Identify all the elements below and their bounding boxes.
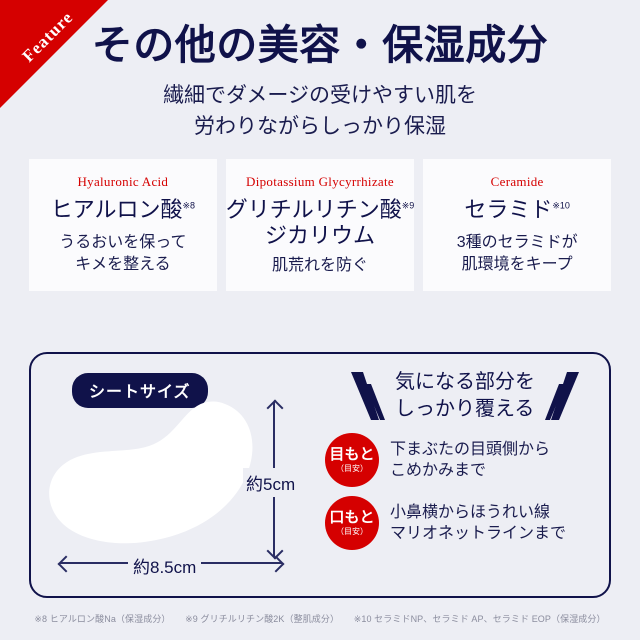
ingredient-english-name: Hyaluronic Acid (77, 174, 168, 190)
subtitle-line-2: 労わりながらしっかり保湿 (0, 112, 640, 142)
coverage-point-desc-line-2: マリオネットラインまで (390, 523, 566, 544)
footnote-marker: ※10 (552, 201, 570, 211)
ingredient-japanese-name: グリチルリチン酸※9 ジカリウム (226, 197, 415, 250)
ingredient-description: うるおいを保って キメを整える (59, 232, 186, 275)
coverage-headline-text: 気になる部分を しっかり覆える (395, 369, 535, 423)
height-dimension-label: 約5cm (243, 468, 298, 497)
ingredient-english-name: Ceramide (491, 174, 544, 190)
footnote-item: ※10 セラミドNP、セラミド AP、セラミド EOP（保湿成分） (354, 614, 606, 624)
sheet-shape-svg (45, 392, 275, 552)
coverage-point-mouth-area: 口もと （目安） 小鼻横からほうれい線 マリオネットラインまで (321, 496, 609, 550)
ingredient-card-list: Hyaluronic Acid ヒアルロン酸※8 うるおいを保って キメを整える… (29, 159, 611, 291)
footnote-marker: ※8 (182, 201, 195, 211)
ingredient-description: 3種のセラミドが 肌環境をキープ (457, 232, 578, 275)
coverage-point-eye-area: 目もと （目安） 下まぶたの目頭側から こめかみまで (321, 433, 609, 487)
sheet-size-panel: シートサイズ 約5cm 約8.5cm 気になる部分を しっかり覆える (29, 352, 611, 598)
ingredient-card-hyaluronic-acid: Hyaluronic Acid ヒアルロン酸※8 うるおいを保って キメを整える (29, 159, 217, 291)
ingredient-japanese-name: セラミド※10 (464, 197, 570, 223)
ingredient-card-dipotassium-glycyrrhizate: Dipotassium Glycyrrhizate グリチルリチン酸※9 ジカリ… (226, 159, 415, 291)
coverage-point-badge-sublabel: （目安） (336, 465, 368, 473)
footnote-item: ※9 グリチルリチン酸2K（整肌成分） (185, 614, 339, 624)
coverage-point-badge-label: 口もと (329, 510, 374, 527)
coverage-point-description: 小鼻横からほうれい線 マリオネットラインまで (390, 502, 566, 544)
ingredient-description: 肌荒れを防ぐ (272, 255, 368, 277)
coverage-point-badge-label: 目もと (329, 447, 374, 464)
coverage-point-description: 下まぶたの目頭側から こめかみまで (390, 439, 550, 481)
coverage-section: 気になる部分を しっかり覆える 目もと （目安） 下まぶたの目頭側から こめかみ… (321, 368, 609, 550)
ingredient-card-ceramide: Ceramide セラミド※10 3種のセラミドが 肌環境をキープ (423, 159, 611, 291)
coverage-point-badge-sublabel: （目安） (336, 528, 368, 536)
right-slash-decoration-icon (541, 368, 581, 424)
coverage-point-desc-line-2: こめかみまで (390, 460, 550, 481)
ingredient-japanese-text: ヒアルロン酸 (51, 197, 183, 222)
footnote-list: ※8 ヒアルロン酸Na（保湿成分） ※9 グリチルリチン酸2K（整肌成分） ※1… (0, 612, 640, 625)
ingredient-desc-line-2: キメを整える (59, 254, 186, 276)
feature-ribbon: Feature (0, 0, 108, 108)
ingredient-desc-line-2: 肌環境をキープ (457, 254, 578, 276)
ingredient-desc-line-1: 肌荒れを防ぐ (272, 255, 368, 277)
width-dimension-label: 約8.5cm (128, 551, 201, 580)
sheet-illustration (45, 392, 275, 552)
ingredient-english-name: Dipotassium Glycyrrhizate (246, 174, 394, 190)
coverage-headline-line-2: しっかり覆える (395, 396, 535, 423)
ingredient-japanese-text-line-2: ジカリウム (226, 223, 415, 249)
sheet-body (49, 402, 252, 544)
ingredient-desc-line-1: 3種のセラミドが (457, 232, 578, 254)
ingredient-japanese-text: グリチルリチン酸 (226, 197, 402, 222)
coverage-headline: 気になる部分を しっかり覆える (321, 368, 609, 424)
footnote-item: ※8 ヒアルロン酸Na（保湿成分） (34, 614, 170, 624)
ingredient-desc-line-1: うるおいを保って (59, 232, 186, 254)
ingredient-japanese-name: ヒアルロン酸※8 (51, 197, 195, 223)
coverage-point-desc-line-1: 小鼻横からほうれい線 (390, 502, 566, 523)
left-slash-decoration-icon (349, 368, 389, 424)
coverage-point-desc-line-1: 下まぶたの目頭側から (390, 439, 550, 460)
ingredient-japanese-text: セラミド (464, 197, 552, 222)
footnote-marker: ※9 (402, 201, 415, 211)
coverage-point-badge: 口もと （目安） (325, 496, 379, 550)
coverage-headline-line-1: 気になる部分を (395, 369, 535, 396)
coverage-point-badge: 目もと （目安） (325, 433, 379, 487)
